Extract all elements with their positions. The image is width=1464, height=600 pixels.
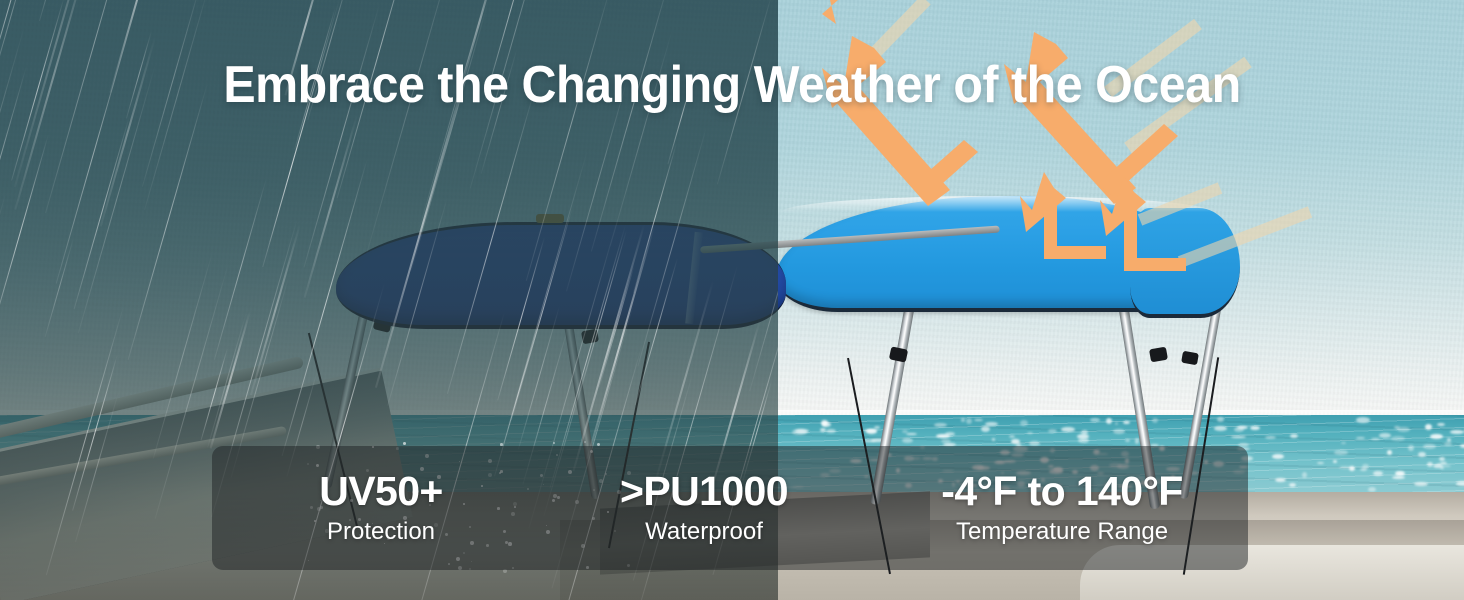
uv-ray-arrow-group-right [1020,170,1350,300]
product-banner: Embrace the Changing Weather of the Ocea… [0,0,1464,600]
feature-value: -4°F to 140°F [862,468,1262,514]
feature-label: Temperature Range [862,516,1262,548]
feature-value: UV50+ [216,468,546,514]
feature-label: Protection [216,516,546,548]
page-title: Embrace the Changing Weather of the Ocea… [51,56,1413,114]
feature-item-uv-protection: UV50+ Protection [212,468,550,548]
uv-ray-arrow-4 [1020,172,1106,259]
feature-bar: UV50+ Protection >PU1000 Waterproof -4°F… [212,446,1248,570]
feature-value: >PU1000 [554,468,854,514]
feature-item-waterproof: >PU1000 Waterproof [550,468,858,548]
feature-label: Waterproof [554,516,854,548]
uv-ray-arrow-3 [822,0,846,24]
feature-item-temperature-range: -4°F to 140°F Temperature Range [858,468,1266,548]
